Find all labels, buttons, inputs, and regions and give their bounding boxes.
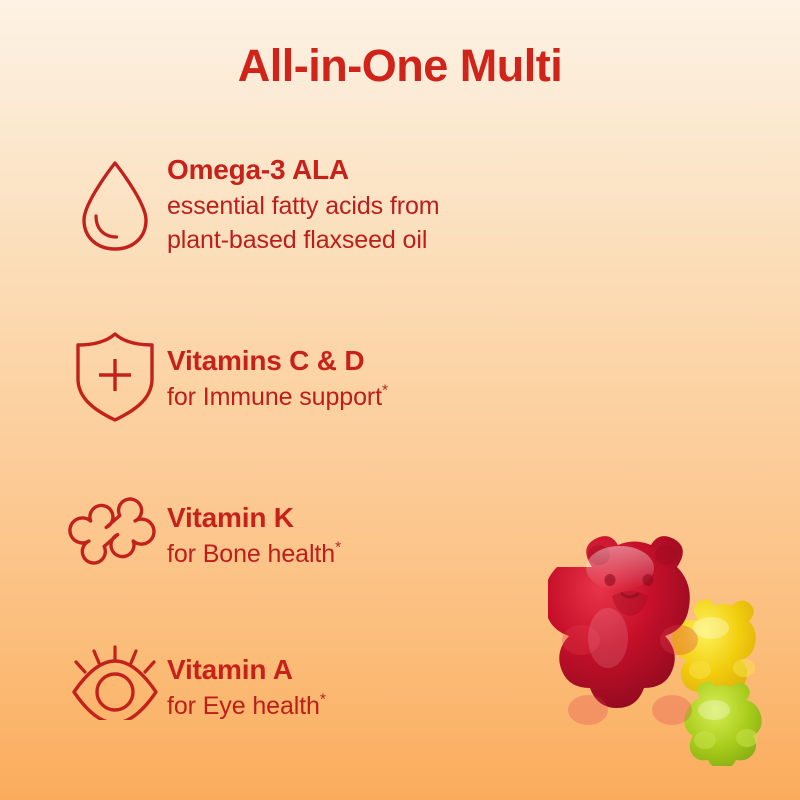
feature-description-line-2: plant-based flaxseed oil <box>167 223 440 258</box>
shield-plus-icon <box>62 325 167 423</box>
footnote-asterisk: * <box>335 540 341 557</box>
feature-row-omega-3: Omega-3 ALA essential fatty acids from p… <box>62 150 440 258</box>
eye-icon <box>62 634 167 720</box>
feature-title: Vitamin K <box>167 500 341 537</box>
feature-row-vitamins-c-d: Vitamins C & D for Immune support* <box>62 325 388 423</box>
feature-description-text: for Immune support <box>167 383 382 411</box>
feature-text-vitamin-a: Vitamin A for Eye health* <box>167 634 326 723</box>
feature-description-line-1: essential fatty acids from <box>167 189 440 224</box>
footnote-asterisk: * <box>382 383 388 400</box>
feature-title: Omega-3 ALA <box>167 152 440 189</box>
footnote-asterisk: * <box>320 692 326 709</box>
feature-description-text: for Eye health <box>167 692 320 720</box>
feature-text-omega-3: Omega-3 ALA essential fatty acids from p… <box>167 150 440 258</box>
feature-title: Vitamins C & D <box>167 343 388 380</box>
red-gummy-bear <box>548 536 698 725</box>
green-gummy-bear <box>684 682 761 766</box>
feature-row-vitamin-k: Vitamin K for Bone health* <box>62 482 341 580</box>
page-title: All-in-One Multi <box>0 40 800 92</box>
feature-description-line-1: for Immune support* <box>167 380 388 415</box>
feature-row-vitamin-a: Vitamin A for Eye health* <box>62 634 326 723</box>
feature-description-line-1: for Bone health* <box>167 537 341 572</box>
feature-description-text: for Bone health <box>167 540 335 568</box>
gummy-bears-photo <box>548 520 800 766</box>
bone-icon <box>62 482 167 580</box>
feature-description-line-1: for Eye health* <box>167 689 326 724</box>
feature-text-vitamins-c-d: Vitamins C & D for Immune support* <box>167 325 388 414</box>
feature-text-vitamin-k: Vitamin K for Bone health* <box>167 482 341 571</box>
product-benefits-poster: All-in-One Multi Omega-3 ALA essential f… <box>0 0 800 800</box>
feature-title: Vitamin A <box>167 652 326 689</box>
droplet-icon <box>62 150 167 254</box>
